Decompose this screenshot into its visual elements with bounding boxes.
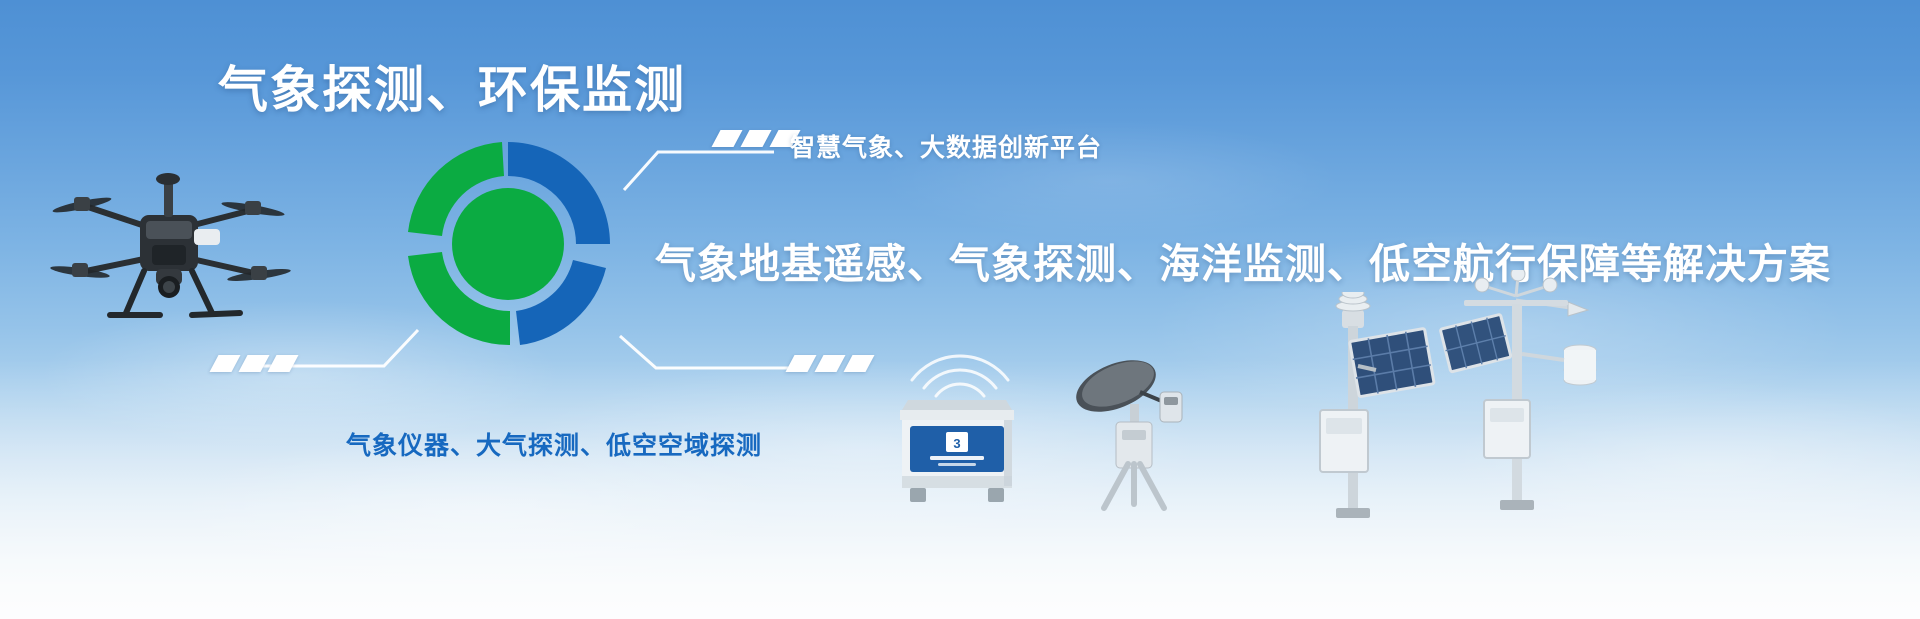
signal-wave-icon [900, 322, 1020, 407]
slash-mark [740, 130, 771, 147]
solar-powered-air-quality-station [1280, 292, 1440, 527]
main-statement: 气象地基遥感、气象探测、海洋监测、低空航行保障等解决方案 [655, 230, 1831, 290]
segmented-ring-graphic [392, 128, 624, 360]
drone-illustration [40, 155, 300, 350]
slash-mark [711, 130, 742, 147]
callout-bottom-label: 气象仪器、大气探测、低空空域探测 [346, 426, 762, 462]
slash-mark [843, 355, 874, 372]
slash-mark [814, 355, 845, 372]
slash-accent-bottom-left [214, 355, 294, 372]
callout-top-label: 智慧气象、大数据创新平台 [790, 128, 1102, 164]
weather-monitoring-banner: 气象探测、环保监测 智慧气象、大数据创新平台 气象地基遥感、气象探测、海洋监测、… [0, 0, 1920, 619]
page-title: 气象探测、环保监测 [218, 50, 686, 122]
lidar-wind-profiler-cabinet: 3 [892, 396, 1022, 511]
slash-accent-top [716, 130, 796, 147]
satellite-dish-tripod [1068, 352, 1198, 517]
slash-accent-bottom-right [790, 355, 870, 372]
slash-mark [267, 355, 298, 372]
slash-mark [209, 355, 240, 372]
slash-mark [238, 355, 269, 372]
automatic-weather-station-anemometer [1420, 270, 1610, 525]
svg-text:3: 3 [953, 436, 960, 451]
slash-mark [785, 355, 816, 372]
